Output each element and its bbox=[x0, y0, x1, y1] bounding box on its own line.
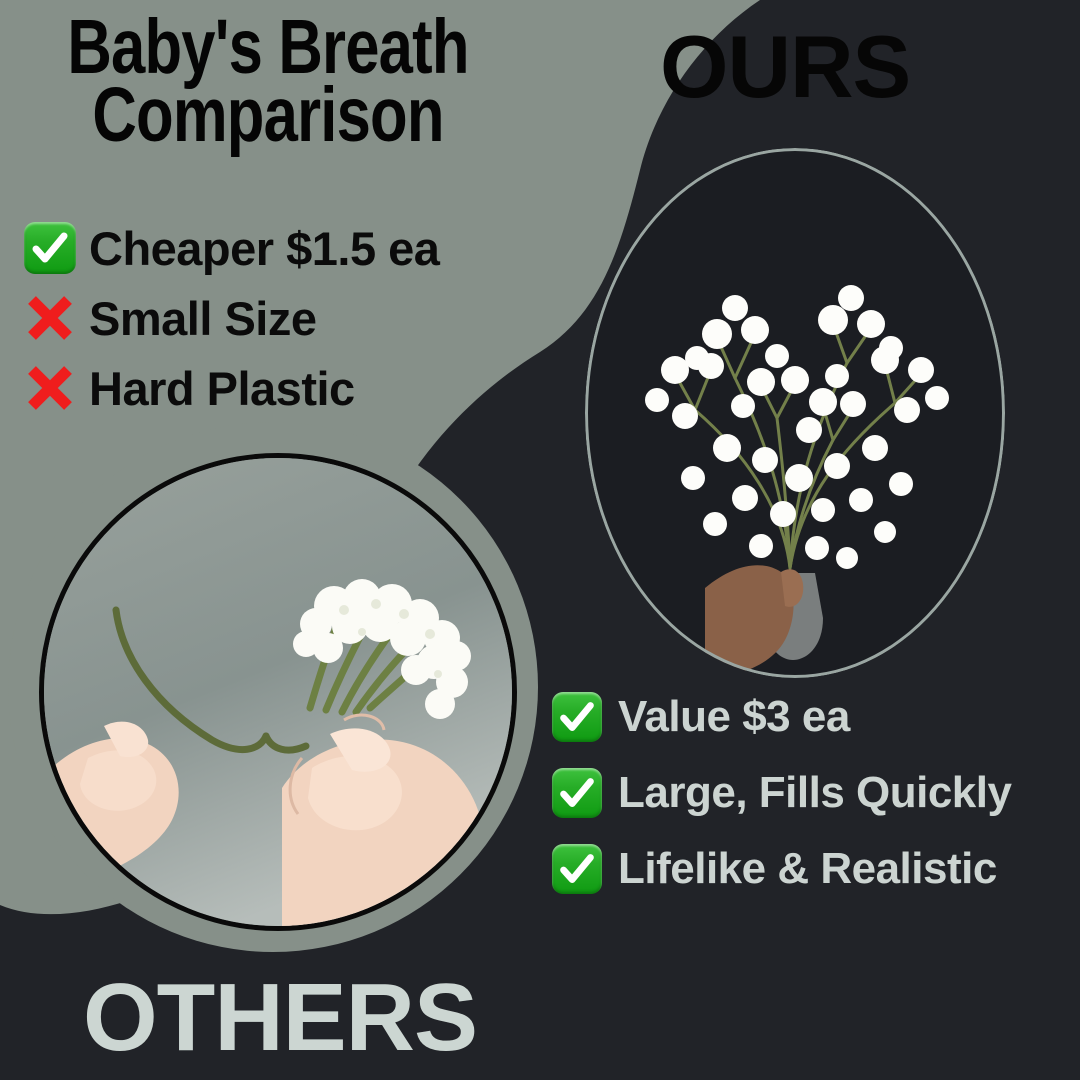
ours-product-photo bbox=[585, 148, 1005, 678]
list-item: Value $3 ea bbox=[552, 681, 1011, 753]
list-item-label: Hard Plastic bbox=[89, 361, 355, 416]
others-product-photo bbox=[39, 453, 517, 931]
green-check-icon bbox=[24, 222, 76, 274]
ours-header: OURS bbox=[660, 16, 910, 118]
list-item: Hard Plastic bbox=[24, 356, 439, 420]
list-item-label: Small Size bbox=[89, 291, 317, 346]
list-item: Small Size bbox=[24, 286, 439, 350]
list-item-label: Cheaper $1.5 ea bbox=[89, 221, 439, 276]
list-item-label: Large, Fills Quickly bbox=[618, 768, 1011, 818]
others-feature-list: Cheaper $1.5 ea Small Size Hard Plastic bbox=[24, 216, 439, 426]
list-item-label: Value $3 ea bbox=[618, 692, 850, 742]
red-cross-icon bbox=[24, 292, 76, 344]
green-check-icon bbox=[552, 692, 602, 742]
others-header: OTHERS bbox=[83, 963, 477, 1073]
list-item: Cheaper $1.5 ea bbox=[24, 216, 439, 280]
title-line-2: Comparison bbox=[60, 82, 476, 150]
page-title: Baby's Breath Comparison bbox=[60, 14, 476, 150]
red-cross-icon bbox=[24, 362, 76, 414]
green-check-icon bbox=[552, 844, 602, 894]
list-item: Lifelike & Realistic bbox=[552, 833, 1011, 905]
infographic-canvas: Baby's Breath Comparison OURS OTHERS Che… bbox=[0, 0, 1080, 1080]
list-item: Large, Fills Quickly bbox=[552, 757, 1011, 829]
ours-feature-list: Value $3 ea Large, Fills Quickly Lifelik… bbox=[552, 681, 1011, 909]
list-item-label: Lifelike & Realistic bbox=[618, 844, 997, 894]
green-check-icon bbox=[552, 768, 602, 818]
